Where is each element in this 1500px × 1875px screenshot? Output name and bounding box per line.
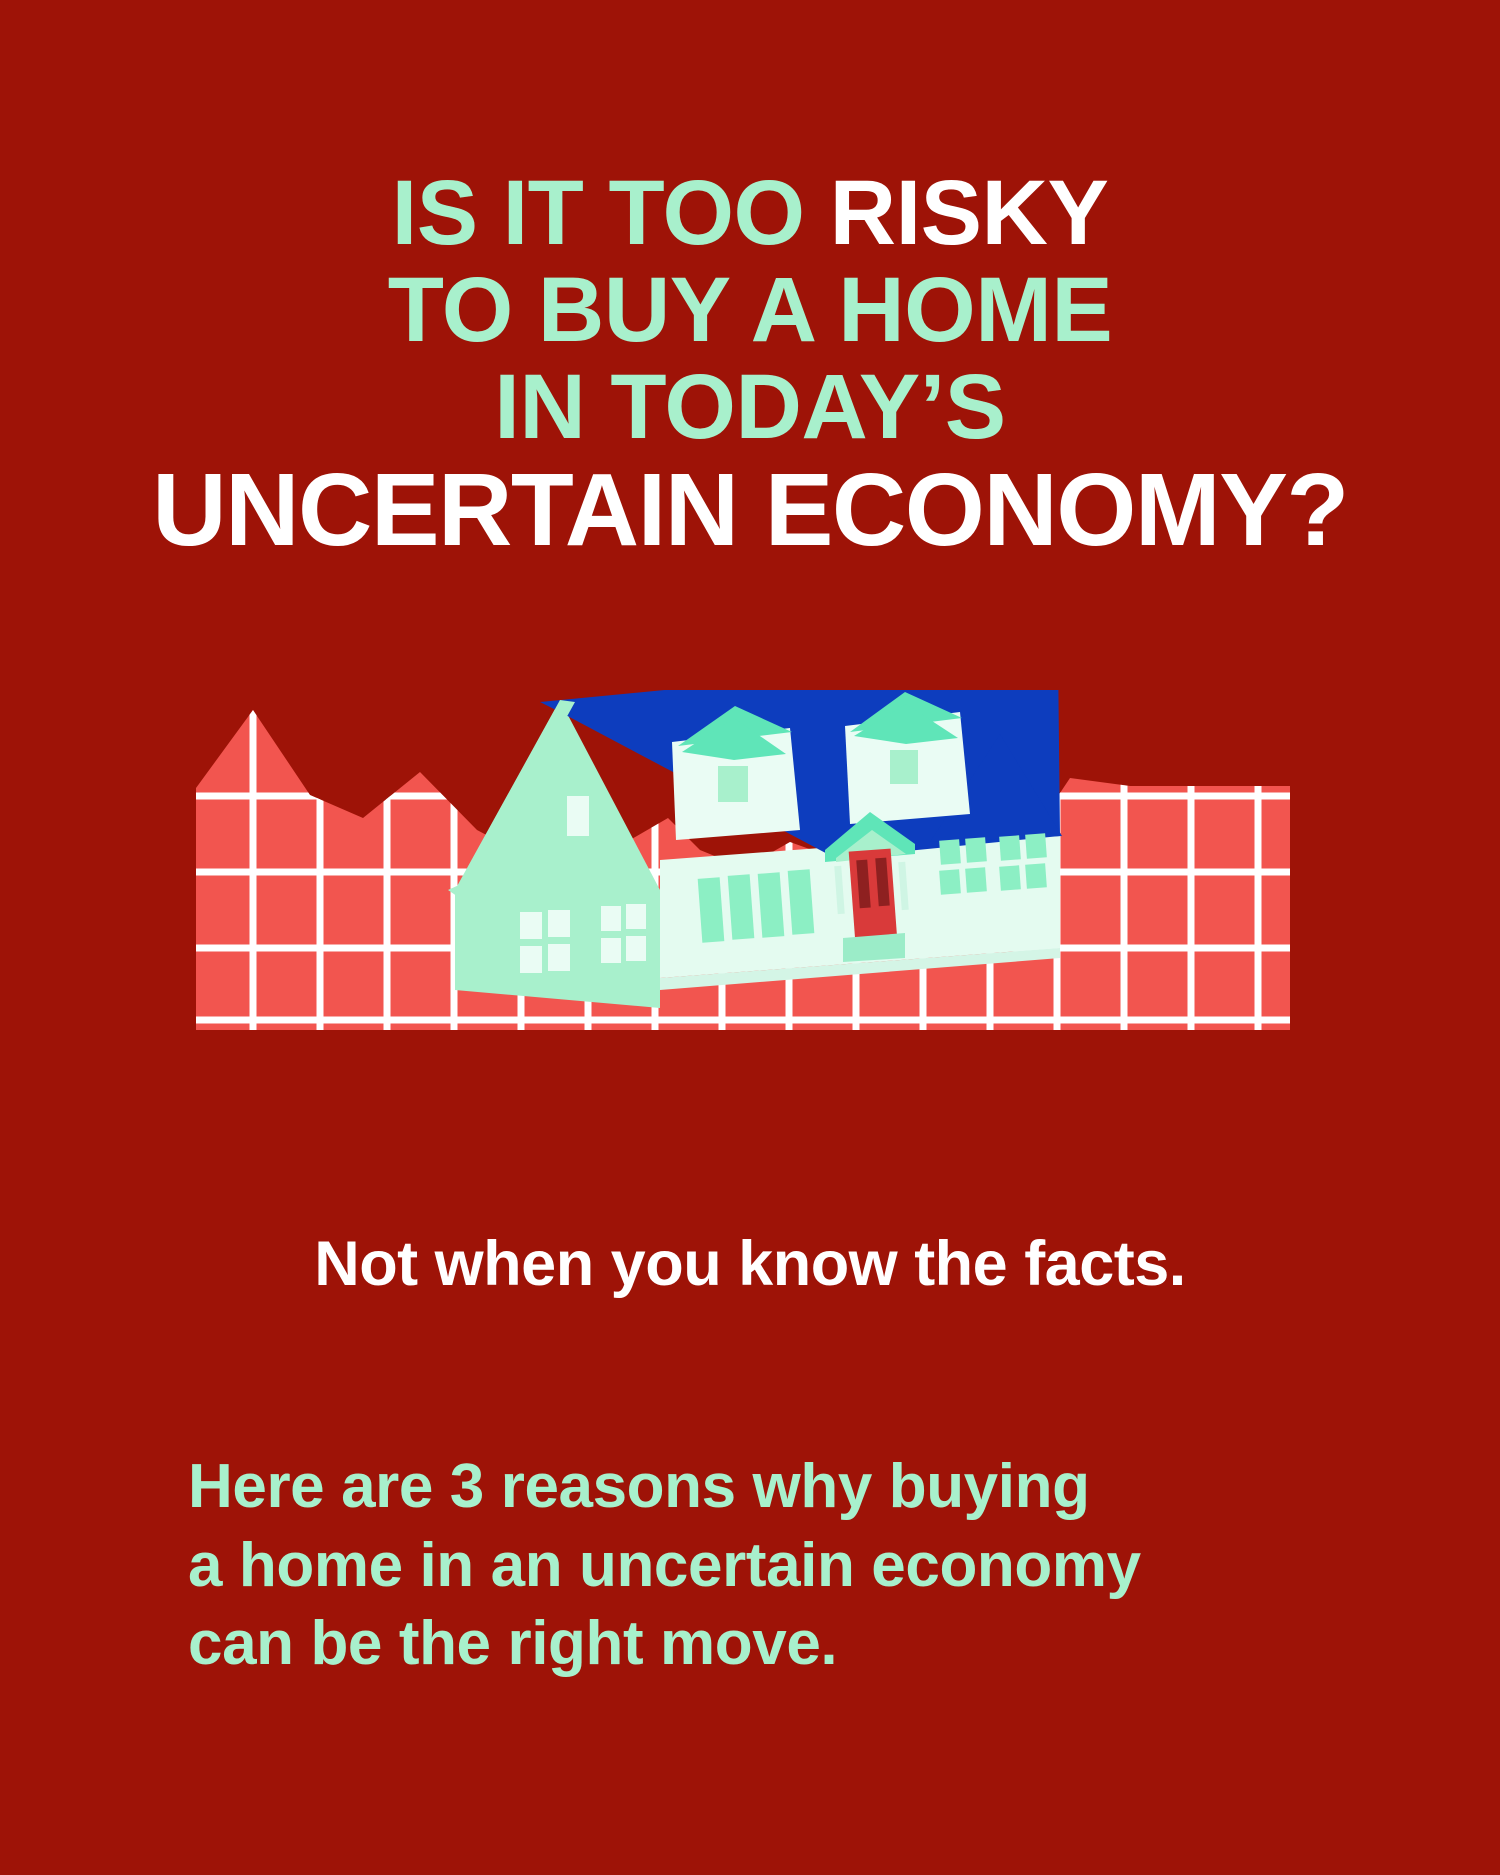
dormer-two-window: [890, 750, 918, 784]
dormer-one-window: [718, 766, 748, 802]
infographic-poster: IS IT TOO RISKY TO BUY A HOME IN TODAY’S…: [0, 0, 1500, 1875]
headline-block: IS IT TOO RISKY TO BUY A HOME IN TODAY’S…: [0, 168, 1500, 561]
headline-line-3: IN TODAY’S: [0, 362, 1500, 453]
illustration-block: [0, 690, 1500, 1180]
subtitle-text: Not when you know the facts.: [0, 1228, 1500, 1300]
porch-shadow: [843, 933, 905, 962]
headline-line-2: TO BUY A HOME: [0, 265, 1500, 356]
front-door: [849, 849, 898, 944]
house-illustration: [448, 690, 1062, 1008]
body-copy-block: Here are 3 reasons why buying a home in …: [188, 1448, 1368, 1684]
body-copy-line-1: Here are 3 reasons why buying: [188, 1448, 1368, 1527]
headline-line-1-white: RISKY: [830, 162, 1109, 264]
headline-line-1: IS IT TOO RISKY: [0, 168, 1500, 259]
body-copy-line-3: can be the right move.: [188, 1605, 1368, 1684]
body-copy-line-2: a home in an uncertain economy: [188, 1527, 1368, 1606]
headline-line-1-mint: IS IT TOO: [392, 162, 805, 264]
gable-attic-window: [567, 796, 589, 836]
headline-line-4: UNCERTAIN ECONOMY?: [0, 459, 1500, 561]
